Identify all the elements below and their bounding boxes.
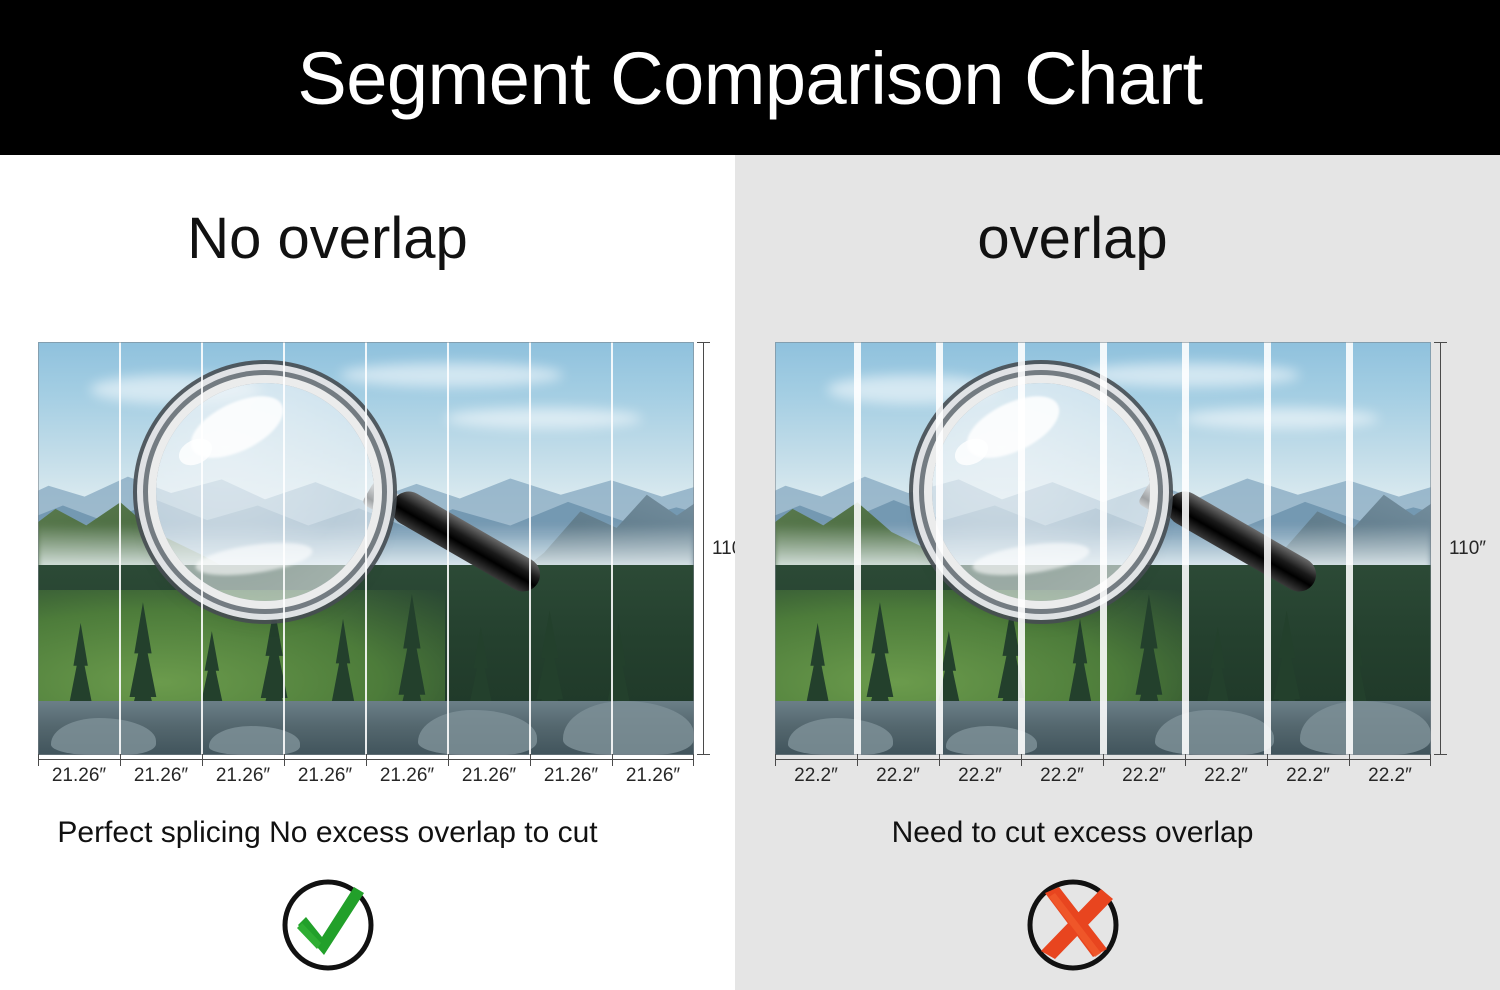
panel-heading-overlap: overlap xyxy=(735,208,1500,270)
overlap-seam xyxy=(854,342,861,755)
segment-seam xyxy=(611,342,613,755)
caption-no-overlap: Perfect splicing No excess overlap to cu… xyxy=(0,815,735,851)
mosaic-preview-no-overlap xyxy=(38,342,694,755)
panel-height-label: 110″ xyxy=(1449,538,1486,560)
segment-seam xyxy=(283,342,285,755)
green-check-icon xyxy=(276,873,380,977)
segment-width-label: 22.2″ xyxy=(775,763,857,789)
overlap-seam xyxy=(1182,342,1189,755)
segment-width-label: 21.26″ xyxy=(284,763,366,789)
page-title: Segment Comparison Chart xyxy=(0,42,1500,116)
segment-width-label: 21.26″ xyxy=(120,763,202,789)
segment-seams-thin xyxy=(38,342,694,755)
width-dimension-line-right: 22.2″ 22.2″ 22.2″ 22.2″ 22.2″ 22.2″ 22.2… xyxy=(775,759,1431,787)
dimension-tick xyxy=(697,342,710,343)
overlap-seam xyxy=(1346,342,1353,755)
dimension-tick xyxy=(1434,342,1447,343)
header-band: Segment Comparison Chart xyxy=(0,0,1500,155)
segment-width-label: 22.2″ xyxy=(1185,763,1267,789)
mosaic-preview-overlap xyxy=(775,342,1431,755)
segment-width-label: 22.2″ xyxy=(857,763,939,789)
segment-width-label: 21.26″ xyxy=(530,763,612,789)
caption-overlap: Need to cut excess overlap xyxy=(735,815,1500,851)
verdict-no-overlap xyxy=(0,873,735,977)
segment-width-label: 22.2″ xyxy=(1021,763,1103,789)
overlap-seam xyxy=(1018,342,1025,755)
segment-width-label: 22.2″ xyxy=(1103,763,1185,789)
dimension-rule xyxy=(1440,342,1441,755)
segment-width-label: 21.26″ xyxy=(202,763,284,789)
panel-overlap: overlap xyxy=(735,155,1500,990)
height-dimension-line-right: 110″ xyxy=(1431,342,1491,755)
segment-seam xyxy=(201,342,203,755)
red-cross-icon xyxy=(1021,873,1125,977)
segment-label-row: 21.26″ 21.26″ 21.26″ 21.26″ 21.26″ 21.26… xyxy=(38,763,694,789)
overlap-seam xyxy=(936,342,943,755)
segment-seam xyxy=(365,342,367,755)
dimension-rule xyxy=(703,342,704,755)
segment-seam xyxy=(447,342,449,755)
segment-label-row: 22.2″ 22.2″ 22.2″ 22.2″ 22.2″ 22.2″ 22.2… xyxy=(775,763,1431,789)
segment-seam xyxy=(119,342,121,755)
segment-width-label: 22.2″ xyxy=(1267,763,1349,789)
segment-width-label: 21.26″ xyxy=(366,763,448,789)
segment-width-label: 22.2″ xyxy=(939,763,1021,789)
segment-comparison-infographic: Segment Comparison Chart No overlap xyxy=(0,0,1500,990)
dimension-tick xyxy=(697,754,710,755)
width-dimension-line-left: 21.26″ 21.26″ 21.26″ 21.26″ 21.26″ 21.26… xyxy=(38,759,694,787)
verdict-overlap xyxy=(735,873,1500,977)
dimension-tick xyxy=(1434,754,1447,755)
panel-heading-no-overlap: No overlap xyxy=(0,208,735,270)
segment-width-label: 21.26″ xyxy=(38,763,120,789)
segment-seams-thick xyxy=(775,342,1431,755)
segment-seam xyxy=(529,342,531,755)
overlap-seam xyxy=(1264,342,1271,755)
segment-width-label: 22.2″ xyxy=(1349,763,1431,789)
overlap-seam xyxy=(1100,342,1107,755)
segment-width-label: 21.26″ xyxy=(448,763,530,789)
segment-width-label: 21.26″ xyxy=(612,763,694,789)
panel-no-overlap: No overlap xyxy=(0,155,735,990)
